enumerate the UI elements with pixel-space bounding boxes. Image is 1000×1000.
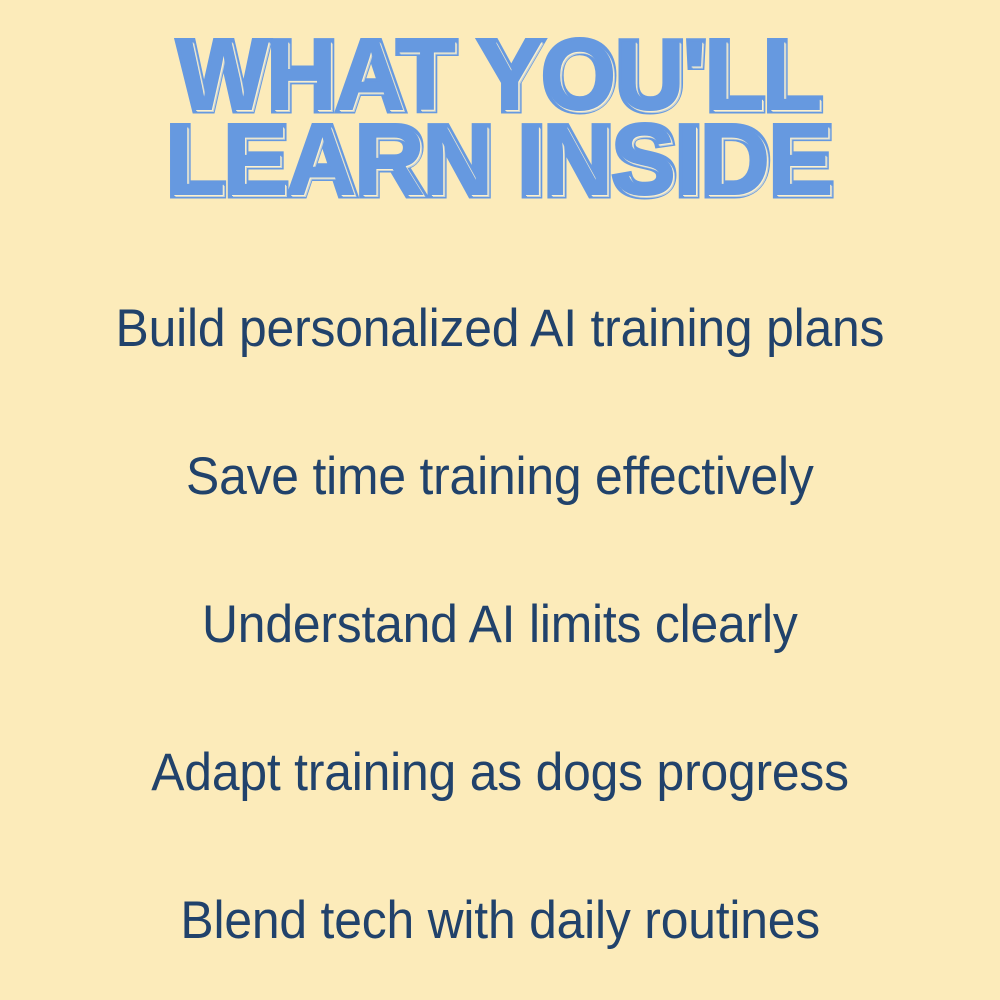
list-item-label: Blend tech with daily routines (180, 894, 820, 947)
list-item: Adapt training as dogs progress (0, 699, 1000, 847)
list-item-label: Build personalized AI training plans (116, 302, 885, 355)
list-item: Save time training effectively (0, 403, 1000, 551)
list-item-label: Understand AI limits clearly (202, 598, 798, 651)
list-item-label: Save time training effectively (186, 450, 814, 503)
learn-inside-list: Build personalized AI training plans Sav… (0, 255, 1000, 995)
list-item: Build personalized AI training plans (0, 255, 1000, 403)
heading-line-1: WHAT YOU'LL (15, 36, 985, 115)
heading-line-2: LEARN INSIDE (15, 121, 985, 200)
list-item: Understand AI limits clearly (0, 551, 1000, 699)
page-title: WHAT YOU'LL LEARN INSIDE (0, 36, 1000, 200)
list-item: Blend tech with daily routines (0, 847, 1000, 995)
poster-canvas: WHAT YOU'LL LEARN INSIDE Build personali… (0, 0, 1000, 1000)
list-item-label: Adapt training as dogs progress (151, 746, 849, 799)
